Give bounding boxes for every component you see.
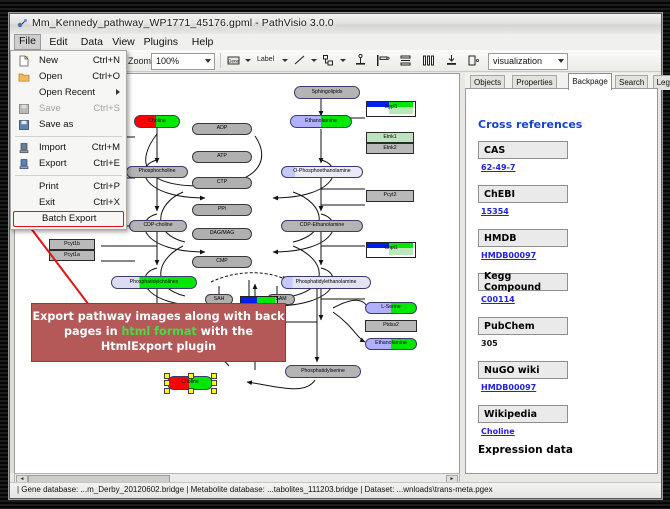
pathway-node-phosphatidylcholines[interactable]: Phosphatidylcholines	[111, 276, 197, 289]
line-dropdown-icon[interactable]	[311, 59, 317, 62]
file-menu-accelerator: Ctrl+M	[92, 140, 120, 156]
align-left-icon[interactable]	[375, 53, 390, 68]
open-folder-icon	[18, 71, 30, 83]
file-menu-label: Exit	[39, 197, 55, 208]
xref-db-kegg-compound: Kegg Compound	[478, 273, 568, 291]
pathway-node-cdp-choline[interactable]: CDP-choline	[129, 220, 187, 232]
save-as-icon	[18, 119, 30, 131]
xref-value-kegg-compound[interactable]: C00114	[481, 295, 515, 304]
xref-value-chebi[interactable]: 15354	[481, 207, 509, 216]
node-label: SAM	[275, 297, 286, 302]
file-menu-label: Open	[39, 71, 62, 82]
pathway-node-chpt1[interactable]: Chpt1	[366, 242, 416, 258]
file-menu-accelerator: Ctrl+S	[93, 101, 120, 117]
export-icon	[18, 158, 30, 170]
title-bar: Mm_Kennedy_pathway_WP1771_45176.gpml - P…	[10, 14, 661, 35]
backpage-panel[interactable]: Cross references CAS62-49-7ChEBI15354HMD…	[465, 88, 658, 474]
selection-handle[interactable]	[188, 373, 194, 379]
pathway-node-ctp[interactable]: CTP	[192, 177, 252, 189]
node-label: ADP	[217, 126, 228, 131]
xref-db-cas: CAS	[478, 141, 568, 159]
node-label: Phosphatidylserine	[301, 369, 345, 374]
node-label: Ethanolamine	[305, 119, 337, 124]
chevron-down-icon	[205, 59, 211, 63]
file-menu-item-exit[interactable]: ExitCtrl+X	[11, 195, 126, 211]
pathvisio-icon	[16, 18, 28, 30]
cross-references-heading: Cross references	[478, 118, 582, 131]
xref-value-nugo-wiki[interactable]: HMDB00097	[481, 383, 536, 392]
node-label: PPi	[218, 207, 226, 212]
node-label: CDP-choline	[143, 223, 172, 228]
annotation-line2-a: pages in	[64, 325, 121, 338]
xref-value-pubchem: 305	[481, 339, 498, 348]
pathway-node-phosphocholine[interactable]: Phosphocholine	[126, 166, 188, 178]
panel-tabstrip[interactable]: ObjectsPropertiesBackpageSearchLegend	[465, 73, 657, 89]
node-label: ATP	[217, 154, 227, 159]
pathway-node-etnk1[interactable]: Etnk1	[366, 132, 414, 143]
annotation-text: Export pathway images along with back pa…	[32, 310, 284, 354]
node-label: Ptdss2	[383, 323, 399, 328]
pathway-node-pcyt2[interactable]: Pcyt2	[366, 190, 414, 202]
annotation-highlight: html format	[121, 325, 196, 338]
menu-bar[interactable]: FileEditDataViewPluginsHelp	[10, 34, 661, 51]
menu-file[interactable]: File	[14, 34, 41, 50]
pathway-node-sgpl1[interactable]: Sgpl1	[366, 101, 416, 117]
xref-db-hmdb: HMDB	[478, 229, 568, 247]
chevron-down-icon	[558, 59, 564, 63]
label-dropdown-icon[interactable]	[282, 59, 288, 62]
pathway-node-dag[interactable]: DAG/MAG	[192, 228, 252, 240]
pathway-node-pcyt1b[interactable]: Pcyt1b	[49, 239, 95, 250]
file-menu-accelerator: Ctrl+N	[93, 53, 120, 69]
line-tool-icon[interactable]	[292, 53, 307, 68]
menu-plugins[interactable]: Plugins	[140, 35, 182, 49]
submenu-arrow-icon	[116, 89, 120, 95]
menu-edit[interactable]: Edit	[45, 35, 71, 49]
file-menu-label: Export	[39, 158, 66, 169]
align-center-icon[interactable]	[398, 53, 413, 68]
pathway-node-sphingolipids[interactable]: Sphingolipids	[294, 86, 360, 99]
node-label: Etnk2	[383, 146, 396, 151]
menu-view[interactable]: View	[108, 35, 139, 49]
file-menu-item-open[interactable]: OpenCtrl+O	[11, 69, 126, 85]
interaction-tool-icon[interactable]	[321, 53, 336, 68]
file-menu-item-new[interactable]: NewCtrl+N	[11, 53, 126, 69]
node-label: Phosphatidylcholines	[130, 280, 179, 285]
xref-value-hmdb[interactable]: HMDB00097	[481, 251, 536, 260]
desktop-background: Mm_Kennedy_pathway_WP1771_45176.gpml - P…	[0, 0, 670, 509]
import-icon	[18, 142, 30, 154]
selection-handle[interactable]	[188, 388, 194, 394]
node-label: CMP	[216, 259, 228, 264]
menu-data[interactable]: Data	[77, 35, 107, 49]
file-menu-label: Print	[39, 181, 59, 192]
group-icon[interactable]	[466, 53, 481, 68]
annotation-line2-b: with the	[197, 325, 253, 338]
file-menu-item-export[interactable]: ExportCtrl+E	[11, 156, 126, 172]
save-disk-icon	[18, 103, 30, 115]
datanode-tool-icon[interactable]: Gene	[226, 53, 241, 68]
xref-db-wikipedia: Wikipedia	[478, 405, 568, 423]
node-label: CDP-Ethanolamine	[300, 223, 344, 228]
file-menu-label: Save	[39, 103, 61, 114]
node-label: Pcyt1a	[64, 253, 80, 258]
file-menu-accelerator: Ctrl+P	[93, 179, 120, 195]
pathway-node-cdp-ethanolamine[interactable]: CDP-Ethanolamine	[281, 220, 363, 232]
node-label: Phosphatidylethanolamine	[296, 280, 357, 285]
expression-data-heading: Expression data	[478, 444, 573, 456]
new-document-icon	[18, 55, 30, 67]
node-label: O-Phosphoethanolamine	[293, 169, 350, 174]
datanode-dropdown-icon[interactable]	[245, 59, 251, 62]
file-menu-item-print[interactable]: PrintCtrl+P	[11, 179, 126, 195]
file-menu-accelerator: Ctrl+X	[93, 195, 120, 211]
node-label: Etnk1	[383, 135, 396, 140]
file-menu-label: Open Recent	[39, 87, 95, 98]
file-menu-accelerator: Ctrl+O	[92, 69, 120, 85]
annotation-callout: Export pathway images along with back pa…	[31, 303, 286, 362]
status-text: | Gene database: ...m_Derby_20120602.bri…	[17, 485, 493, 494]
pathvisio-window: Mm_Kennedy_pathway_WP1771_45176.gpml - P…	[9, 13, 662, 499]
anchor-icon[interactable]	[353, 53, 368, 68]
node-label: Choline	[148, 119, 166, 124]
xref-value-cas[interactable]: 62-49-7	[481, 163, 515, 172]
zoom-value: 100%	[156, 56, 179, 66]
node-label: DAG/MAG	[210, 231, 235, 236]
selection-handle[interactable]	[164, 388, 170, 394]
node-label: SAH	[214, 297, 225, 302]
visualization-value: visualization	[493, 56, 542, 66]
file-menu-label: Batch Export	[42, 213, 96, 224]
svg-text:Gene: Gene	[228, 58, 240, 63]
selection-handle[interactable]	[164, 373, 170, 379]
file-menu-item-batch-export[interactable]: Batch Export	[13, 211, 124, 227]
selection-handle[interactable]	[164, 380, 170, 386]
xref-db-pubchem: PubChem	[478, 317, 568, 335]
annotation-line3: HtmlExport plugin	[101, 340, 216, 353]
annotation-line1: Export pathway images along with back	[32, 310, 284, 323]
node-label: CTP	[217, 180, 227, 185]
xref-db-nugo-wiki: NuGO wiki	[478, 361, 568, 379]
node-label: L-Serine	[381, 305, 401, 310]
file-menu-item-import[interactable]: ImportCtrl+M	[11, 140, 126, 156]
toolbar-separator	[220, 53, 221, 68]
node-label: Sphingolipids	[312, 90, 343, 95]
pathway-node-ptdss2[interactable]: Ptdss2	[365, 320, 417, 332]
selection-handle[interactable]	[211, 373, 217, 379]
selection-handle[interactable]	[211, 380, 217, 386]
tab-backpage[interactable]: Backpage	[568, 73, 612, 90]
file-menu-label: New	[39, 55, 58, 66]
stack-icon[interactable]	[444, 53, 459, 68]
pathway-node-cmp[interactable]: CMP	[192, 256, 252, 268]
pathway-node-o-phosphoethanolamine[interactable]: O-Phosphoethanolamine	[281, 166, 363, 178]
zoom-combo[interactable]: 100%	[151, 53, 215, 70]
zoom-label: Zoom:	[128, 56, 154, 66]
visualization-combo[interactable]: visualization	[488, 53, 568, 70]
xref-value-wikipedia[interactable]: Choline	[481, 427, 515, 436]
pathway-node-phosphatidylserine[interactable]: Phosphatidylserine	[285, 365, 361, 378]
file-menu-item-save[interactable]: SaveCtrl+S	[11, 101, 126, 117]
menu-help[interactable]: Help	[188, 35, 218, 49]
menu-separator	[15, 136, 122, 137]
node-label: Pcyt1b	[64, 242, 80, 247]
side-panel: ObjectsPropertiesBackpageSearchLegend Cr…	[465, 73, 657, 473]
pathway-node-pcyt1a[interactable]: Pcyt1a	[49, 250, 95, 261]
pathway-node-ppi[interactable]: PPi	[192, 204, 252, 216]
file-menu-item-save-as[interactable]: Save as	[11, 117, 126, 133]
pathway-node-ethanolamine-2[interactable]: Ethanolamine	[365, 338, 417, 350]
pathway-node-ethanolamine[interactable]: Ethanolamine	[290, 115, 352, 128]
distribute-horizontal-icon[interactable]	[421, 53, 436, 68]
pathway-node-choline[interactable]: Choline	[134, 115, 180, 128]
window-title: Mm_Kennedy_pathway_WP1771_45176.gpml - P…	[32, 17, 334, 29]
node-label: Sgpl1	[367, 104, 415, 110]
file-menu-item-open-recent[interactable]: Open Recent	[11, 85, 126, 101]
file-menu-label: Save as	[39, 119, 73, 130]
status-bar: | Gene database: ...m_Derby_20120602.bri…	[10, 482, 661, 498]
pathway-node-etnk2[interactable]: Etnk2	[366, 143, 414, 154]
interaction-dropdown-icon[interactable]	[340, 59, 346, 62]
pathway-node-l-serine[interactable]: L-Serine	[365, 302, 417, 314]
xref-db-chebi: ChEBI	[478, 185, 568, 203]
node-label: Ethanolamine	[375, 341, 407, 346]
selection-handle[interactable]	[211, 388, 217, 394]
node-label: Choline	[181, 380, 199, 385]
pathway-node-phosphatidylethanolamine[interactable]: Phosphatidylethanolamine	[281, 276, 371, 289]
node-label: Chpt1	[367, 245, 415, 251]
pathway-node-atp[interactable]: ATP	[192, 151, 252, 163]
node-label: Phosphocholine	[139, 169, 176, 174]
menu-separator	[15, 175, 122, 176]
file-menu-accelerator: Ctrl+E	[93, 156, 120, 172]
pathway-node-adp[interactable]: ADP	[192, 123, 252, 135]
file-menu-dropdown[interactable]: NewCtrl+NOpenCtrl+OOpen RecentSaveCtrl+S…	[10, 50, 127, 230]
label-tool-label[interactable]: Label	[257, 56, 274, 63]
node-label: Pcyt2	[384, 193, 397, 198]
file-menu-label: Import	[39, 142, 66, 153]
